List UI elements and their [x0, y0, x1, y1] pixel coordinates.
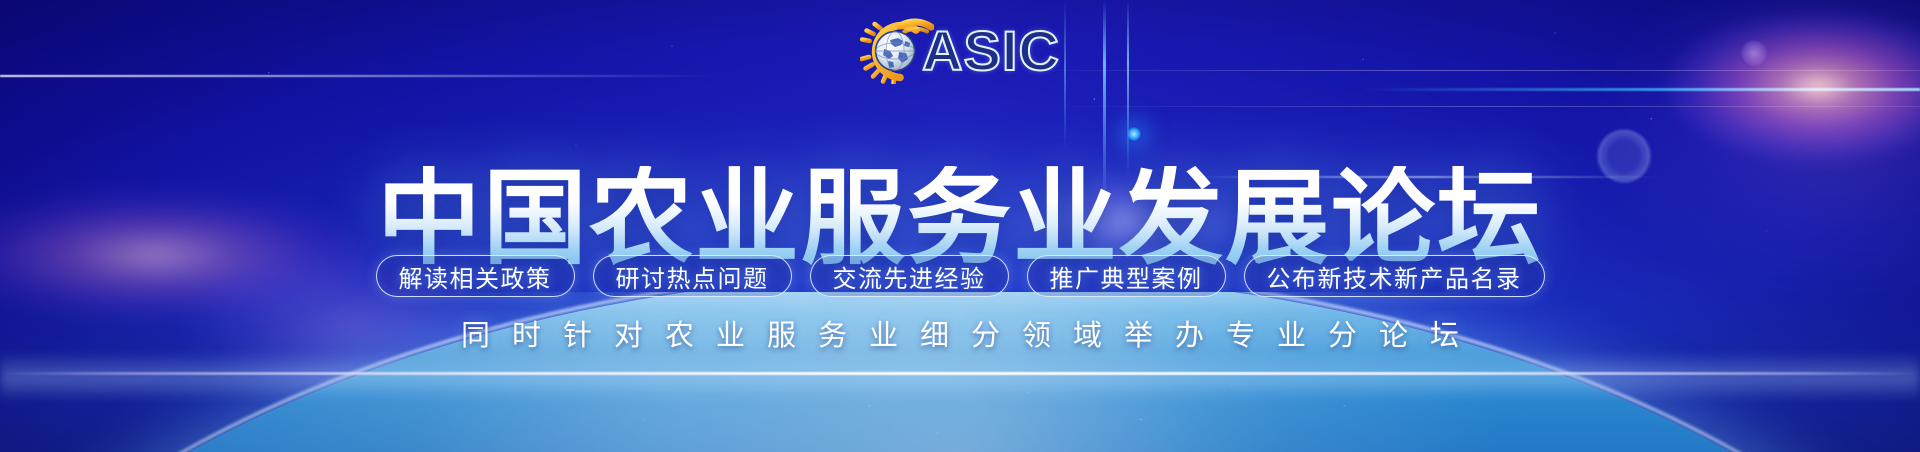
- highlight-pill: 研讨热点问题: [593, 255, 792, 297]
- casic-wordmark: ASIC: [922, 23, 1060, 79]
- banner-subtitle: 同时针对农业服务业细分领域举办专业分论坛: [0, 312, 1920, 354]
- highlight-pill-list: 解读相关政策 研讨热点问题 交流先进经验 推广典型案例 公布新技术新产品名录: [0, 255, 1920, 297]
- highlight-pill: 交流先进经验: [810, 255, 1009, 297]
- highlight-pill: 推广典型案例: [1027, 255, 1226, 297]
- highlight-pill: 公布新技术新产品名录: [1244, 255, 1545, 297]
- casic-globe-logo-icon: [860, 18, 934, 84]
- banner-content: ASIC 中国农业服务业发展论坛 解读相关政策 研讨热点问题 交流先进经验 推广…: [0, 0, 1920, 452]
- highlight-pill: 解读相关政策: [376, 255, 575, 297]
- casic-logo: ASIC: [860, 18, 1060, 84]
- event-banner: ASIC 中国农业服务业发展论坛 解读相关政策 研讨热点问题 交流先进经验 推广…: [0, 0, 1920, 452]
